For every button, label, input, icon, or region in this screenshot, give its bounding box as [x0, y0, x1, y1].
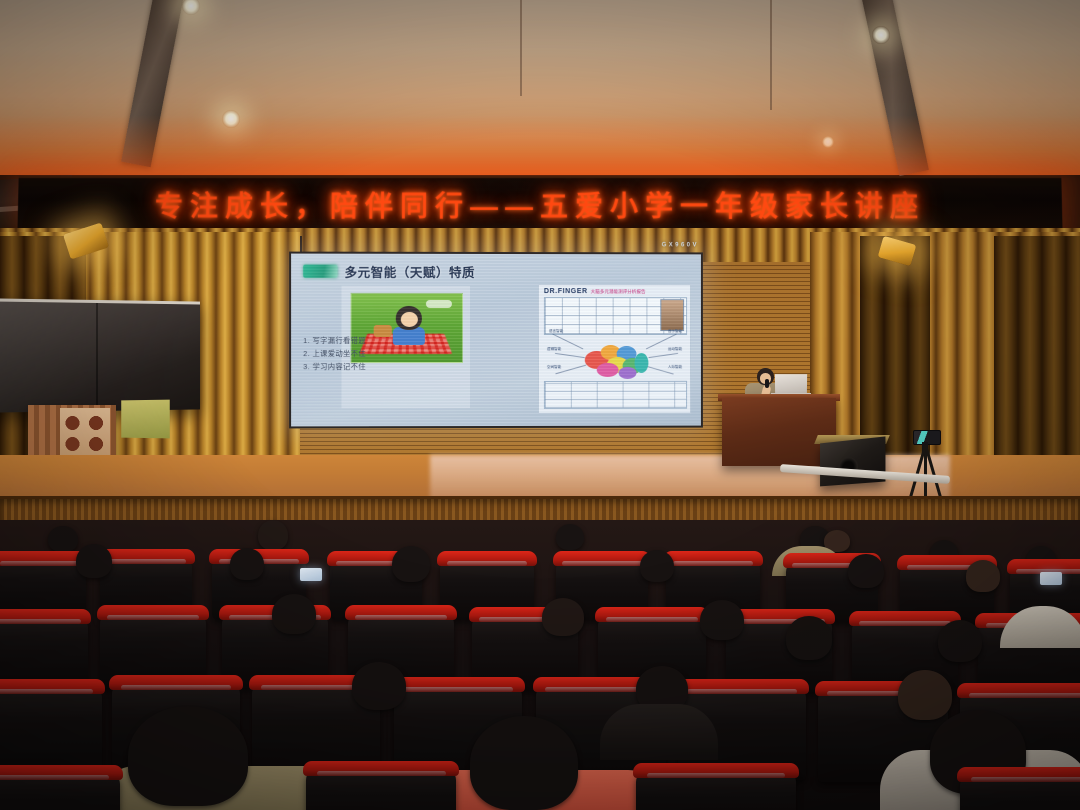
slide-title: 多元智能（天赋）特质: [345, 262, 475, 281]
screen-model-code: GX960V: [662, 242, 699, 248]
report-title: DR.FINGER 大脑多元潜能测评分析报告: [544, 288, 646, 295]
spot-light-icon: [872, 26, 890, 44]
microphone-icon: [765, 379, 769, 388]
audience-seating: [0, 520, 1080, 810]
brain-label: 人际智能: [668, 365, 682, 370]
audience-head: [48, 526, 78, 552]
brain-label: 语言智能: [549, 329, 563, 334]
list-item: 2. 上课爱动坐不住: [303, 349, 412, 359]
left-decor-panel: [60, 408, 110, 458]
audience-head: [786, 616, 832, 660]
audience-head: [966, 560, 1000, 592]
report-portrait-photo: [660, 299, 684, 331]
brain-label: 逻辑智能: [547, 347, 561, 352]
audience-head: [258, 520, 288, 550]
report-chart-block: DR.FINGER 大脑多元潜能测评分析报告: [538, 284, 691, 414]
seat[interactable]: [636, 770, 796, 810]
seat[interactable]: [0, 772, 120, 810]
ceiling: [0, 0, 1080, 175]
stage-drape-far-right: [994, 236, 1080, 484]
left-equipment-box: [121, 400, 170, 439]
audience-head: [848, 554, 884, 588]
audience-head: [352, 662, 406, 710]
left-display-panel: [0, 298, 200, 412]
report-brand: DR.FINGER: [544, 288, 588, 295]
podium: [722, 398, 836, 466]
brain-label: 音乐智能: [668, 329, 682, 334]
audience-head: [272, 594, 316, 634]
report-bottom-table: [544, 381, 687, 409]
slide-header: 多元智能（天赋）特质: [303, 262, 475, 281]
audience-head: [938, 620, 982, 662]
audience-head: [470, 716, 578, 810]
phone-screen: [1040, 572, 1062, 585]
brain-label: 运动智能: [668, 347, 682, 352]
seat[interactable]: [960, 774, 1080, 810]
list-item: 1. 写字漏行看错题: [303, 336, 412, 346]
audience-head: [230, 548, 264, 580]
audience-head: [76, 544, 112, 578]
brain-diagram: [579, 341, 653, 381]
brain-label: 空间智能: [547, 365, 561, 370]
seat[interactable]: [306, 768, 456, 810]
audience-head: [542, 598, 584, 636]
audience-shoulders: [600, 704, 718, 760]
brand-logo-green-icon: [303, 265, 337, 278]
slide-bullet-list: 1. 写字漏行看错题 2. 上课爱动坐不住 3. 学习内容记不住: [303, 336, 412, 372]
audience-head: [700, 600, 744, 640]
spot-light-icon: [182, 0, 200, 15]
banner-text: 专注成长，陪伴同行——五爱小学一年级家长讲座: [155, 185, 926, 225]
auditorium-photo: 专注成长，陪伴同行——五爱小学一年级家长讲座 多元智能（天赋）特质: [0, 0, 1080, 810]
audience-head: [128, 706, 248, 806]
projection-screen: 多元智能（天赋）特质 1. 写字漏行看错题 2. 上课爱动坐不住 3. 学习内容…: [289, 252, 703, 429]
audience-head: [640, 550, 674, 582]
report-subtitle: 大脑多元潜能测评分析报告: [591, 289, 646, 295]
audience-head: [556, 524, 584, 550]
audience-head: [898, 670, 952, 720]
list-item: 3. 学习内容记不住: [303, 362, 412, 372]
phone-screen: [300, 568, 322, 581]
audience-head: [392, 546, 430, 582]
